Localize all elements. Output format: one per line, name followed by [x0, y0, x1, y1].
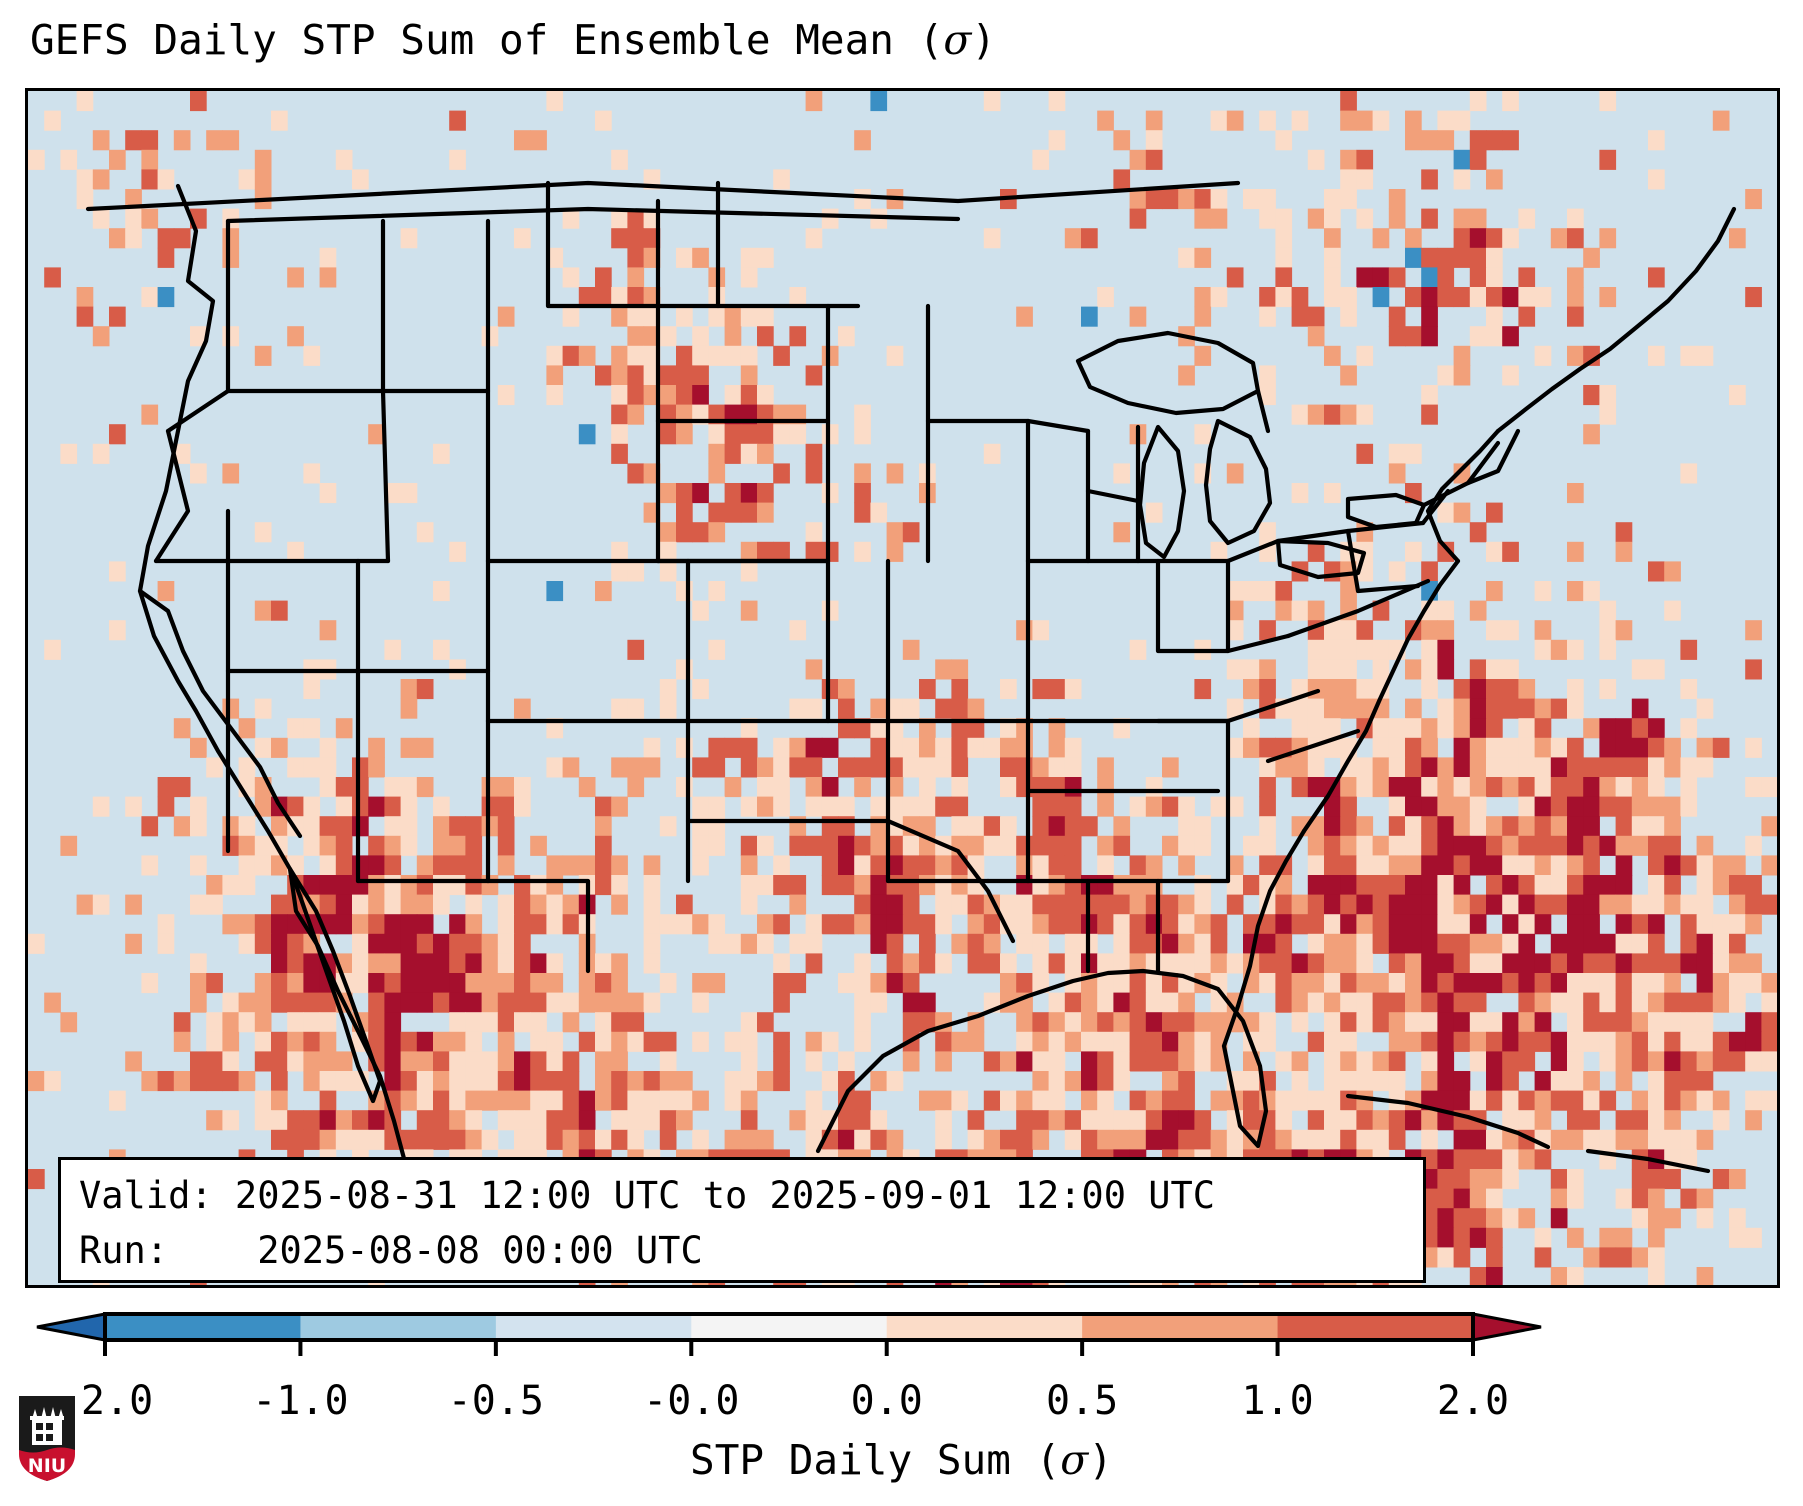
- heatmap-cell: [546, 91, 563, 111]
- heatmap-cell: [1454, 953, 1471, 973]
- heatmap-cell: [870, 934, 887, 954]
- heatmap-cell: [773, 346, 790, 366]
- heatmap-cell: [935, 797, 952, 817]
- heatmap-cell: [1729, 1208, 1746, 1228]
- heatmap-cell: [1502, 1091, 1519, 1111]
- heatmap-cell: [433, 973, 450, 993]
- heatmap-cell: [887, 346, 904, 366]
- heatmap-cell: [919, 797, 936, 817]
- heatmap-cell: [1518, 1149, 1535, 1169]
- heatmap-cell: [1421, 307, 1438, 327]
- heatmap-cell: [1389, 757, 1406, 777]
- heatmap-cell: [1227, 953, 1244, 973]
- heatmap-cell: [1632, 1051, 1649, 1071]
- heatmap-cell: [190, 953, 207, 973]
- heatmap-cell: [1049, 757, 1066, 777]
- heatmap-cell: [1567, 836, 1584, 856]
- heatmap-cell: [1065, 816, 1082, 836]
- heatmap-cell: [1016, 973, 1033, 993]
- heatmap-cell: [514, 1071, 531, 1091]
- heatmap-cell: [1470, 1228, 1487, 1248]
- heatmap-cell: [1049, 1051, 1066, 1071]
- heatmap-cell: [530, 1051, 547, 1071]
- heatmap-cell: [1421, 973, 1438, 993]
- heatmap-cell: [465, 1071, 482, 1091]
- heatmap-cell: [320, 836, 337, 856]
- heatmap-cell: [1389, 914, 1406, 934]
- heatmap-cell: [1567, 267, 1584, 287]
- heatmap-cell: [530, 130, 547, 150]
- heatmap-cell: [1697, 934, 1714, 954]
- heatmap-cell: [1324, 699, 1341, 719]
- heatmap-cell: [1324, 346, 1341, 366]
- heatmap-cell: [1211, 934, 1228, 954]
- heatmap-cell: [951, 699, 968, 719]
- heatmap-cell: [1470, 1189, 1487, 1209]
- heatmap-cell: [1292, 993, 1309, 1013]
- heatmap-cell: [546, 895, 563, 915]
- heatmap-cell: [514, 973, 531, 993]
- heatmap-cell: [1535, 287, 1552, 307]
- heatmap-cell: [336, 875, 353, 895]
- heatmap-cell: [1275, 953, 1292, 973]
- heatmap-cell: [789, 326, 806, 346]
- heatmap-cell: [417, 738, 434, 758]
- heatmap-cell: [1178, 836, 1195, 856]
- heatmap-cell: [368, 1012, 385, 1032]
- heatmap-cell: [433, 816, 450, 836]
- heatmap-cell: [741, 483, 758, 503]
- heatmap-cell: [1178, 248, 1195, 268]
- heatmap-cell: [158, 581, 175, 601]
- heatmap-cell: [1389, 993, 1406, 1013]
- heatmap-cell: [1421, 777, 1438, 797]
- info-box: Valid: 2025-08-31 12:00 UTC to 2025-09-0…: [58, 1157, 1426, 1283]
- heatmap-cell: [1713, 855, 1730, 875]
- heatmap-cell: [1502, 679, 1519, 699]
- heatmap-cell: [449, 1071, 466, 1091]
- heatmap-cell: [1697, 1189, 1714, 1209]
- heatmap-cell: [320, 620, 337, 640]
- heatmap-cell: [1340, 797, 1357, 817]
- heatmap-cell: [1275, 267, 1292, 287]
- heatmap-cell: [1599, 1228, 1616, 1248]
- heatmap-cell: [660, 699, 677, 719]
- heatmap-cell: [1130, 895, 1147, 915]
- heatmap-cell: [1032, 1071, 1049, 1091]
- heatmap-cell: [903, 973, 920, 993]
- heatmap-cell: [741, 757, 758, 777]
- heatmap-cell: [1648, 169, 1665, 189]
- heatmap-cell: [870, 91, 887, 111]
- heatmap-cell: [1389, 209, 1406, 229]
- heatmap-cell: [854, 875, 871, 895]
- heatmap-cell: [1340, 1071, 1357, 1091]
- heatmap-cell: [1648, 855, 1665, 875]
- heatmap-cell: [255, 1051, 272, 1071]
- heatmap-cell: [595, 953, 612, 973]
- heatmap-cell: [417, 679, 434, 699]
- heatmap-cell: [482, 953, 499, 973]
- heatmap-cell: [1308, 601, 1325, 621]
- heatmap-cell: [1065, 679, 1082, 699]
- heatmap-cell: [676, 914, 693, 934]
- heatmap-cell: [1583, 875, 1600, 895]
- heatmap-cell: [1518, 757, 1535, 777]
- heatmap-cell: [1113, 875, 1130, 895]
- heatmap-cell: [660, 1110, 677, 1130]
- heatmap-cell: [887, 914, 904, 934]
- heatmap-cell: [465, 1110, 482, 1130]
- heatmap-cell: [595, 1130, 612, 1150]
- heatmap-cell: [336, 914, 353, 934]
- heatmap-cell: [417, 1130, 434, 1150]
- heatmap-cell: [1049, 130, 1066, 150]
- heatmap-cell: [1324, 953, 1341, 973]
- heatmap-cell: [158, 1071, 175, 1091]
- heatmap-cell: [627, 463, 644, 483]
- heatmap-cell: [1486, 934, 1503, 954]
- heatmap-cell: [870, 797, 887, 817]
- heatmap-cell: [1389, 1071, 1406, 1091]
- heatmap-cell: [1713, 993, 1730, 1013]
- heatmap-cell: [611, 542, 628, 562]
- heatmap-cell: [1616, 777, 1633, 797]
- heatmap-cell: [174, 130, 191, 150]
- heatmap-cell: [1065, 953, 1082, 973]
- heatmap-cell: [822, 679, 839, 699]
- heatmap-cell: [546, 757, 563, 777]
- heatmap-cell: [1146, 973, 1163, 993]
- colorbar-tick-label: -0.5: [448, 1378, 544, 1424]
- heatmap-cell: [417, 914, 434, 934]
- heatmap-cell: [627, 1110, 644, 1130]
- heatmap-cell: [384, 797, 401, 817]
- heatmap-cell: [255, 855, 272, 875]
- heatmap-cell: [1470, 1091, 1487, 1111]
- heatmap-cell: [1065, 875, 1082, 895]
- heatmap-cell: [1405, 934, 1422, 954]
- heatmap-cell: [1211, 1130, 1228, 1150]
- heatmap-cell: [1405, 444, 1422, 464]
- heatmap-cell: [1373, 993, 1390, 1013]
- heatmap-cell: [287, 1051, 304, 1071]
- heatmap-cell: [1567, 1130, 1584, 1150]
- colorbar-tick-label: 1.0: [1241, 1378, 1313, 1424]
- heatmap-cell: [1599, 150, 1616, 170]
- heatmap-cell: [692, 1130, 709, 1150]
- heatmap-cell: [1405, 738, 1422, 758]
- heatmap-cell: [222, 1071, 239, 1091]
- heatmap-cell: [822, 209, 839, 229]
- heatmap-cell: [1178, 1071, 1195, 1091]
- heatmap-cell: [741, 1012, 758, 1032]
- heatmap-cell: [1292, 1051, 1309, 1071]
- heatmap-cell: [1470, 816, 1487, 836]
- heatmap-cell: [1130, 855, 1147, 875]
- heatmap-cell: [271, 816, 288, 836]
- heatmap-cell: [206, 1110, 223, 1130]
- heatmap-cell: [1632, 914, 1649, 934]
- heatmap-cell: [206, 1071, 223, 1091]
- heatmap-cell: [611, 699, 628, 719]
- heatmap-cell: [433, 1032, 450, 1052]
- heatmap-cell: [1664, 993, 1681, 1013]
- heatmap-cell: [1745, 1032, 1762, 1052]
- heatmap-cell: [838, 1130, 855, 1150]
- heatmap-cell: [1583, 895, 1600, 915]
- heatmap-cell: [838, 326, 855, 346]
- heatmap-cell: [1259, 365, 1276, 385]
- heatmap-cell: [1470, 914, 1487, 934]
- heatmap-cell: [1454, 169, 1471, 189]
- heatmap-cell: [1648, 973, 1665, 993]
- heatmap-cell: [1340, 287, 1357, 307]
- heatmap-cell: [1016, 620, 1033, 640]
- heatmap-cell: [1259, 287, 1276, 307]
- heatmap-cell: [1049, 777, 1066, 797]
- heatmap-cell: [449, 150, 466, 170]
- heatmap-cell: [1292, 1071, 1309, 1091]
- heatmap-cell: [676, 483, 693, 503]
- heatmap-cell: [951, 816, 968, 836]
- heatmap-cell: [1729, 934, 1746, 954]
- heatmap-cell: [125, 895, 142, 915]
- heatmap-cell: [1227, 1130, 1244, 1150]
- heatmap-cell: [1567, 287, 1584, 307]
- heatmap-cell: [773, 875, 790, 895]
- heatmap-cell: [465, 816, 482, 836]
- heatmap-cell: [1664, 561, 1681, 581]
- heatmap-cell: [1486, 1149, 1503, 1169]
- heatmap-cell: [1502, 1051, 1519, 1071]
- heatmap-cell: [1518, 777, 1535, 797]
- heatmap-cell: [1470, 209, 1487, 229]
- heatmap-cell: [595, 1091, 612, 1111]
- heatmap-cell: [1567, 699, 1584, 719]
- heatmap-cell: [1097, 757, 1114, 777]
- heatmap-cell: [1373, 1071, 1390, 1091]
- heatmap-cell: [222, 914, 239, 934]
- heatmap-cell: [1259, 111, 1276, 131]
- heatmap-cell: [255, 1012, 272, 1032]
- heatmap-cell: [401, 953, 418, 973]
- heatmap-cell: [271, 993, 288, 1013]
- heatmap-cell: [1259, 659, 1276, 679]
- heatmap-cell: [1308, 1130, 1325, 1150]
- heatmap-cell: [1049, 953, 1066, 973]
- heatmap-cell: [1697, 973, 1714, 993]
- heatmap-cell: [482, 1091, 499, 1111]
- heatmap-cell: [1697, 1051, 1714, 1071]
- heatmap-cell: [222, 463, 239, 483]
- heatmap-cell: [530, 895, 547, 915]
- heatmap-cell: [190, 895, 207, 915]
- heatmap-cell: [1599, 228, 1616, 248]
- heatmap-cell: [1648, 1012, 1665, 1032]
- heatmap-cell: [741, 267, 758, 287]
- heatmap-cell: [1664, 1051, 1681, 1071]
- heatmap-cell: [368, 895, 385, 915]
- heatmap-cell: [1680, 895, 1697, 915]
- heatmap-cell: [854, 483, 871, 503]
- heatmap-cell: [1470, 130, 1487, 150]
- heatmap-cell: [401, 679, 418, 699]
- heatmap-cell: [352, 934, 369, 954]
- heatmap-cell: [368, 914, 385, 934]
- heatmap-cell: [838, 836, 855, 856]
- heatmap-cell: [1486, 287, 1503, 307]
- heatmap-cell: [1535, 738, 1552, 758]
- heatmap-cell: [1292, 914, 1309, 934]
- heatmap-cell: [449, 914, 466, 934]
- heatmap-cell: [465, 1091, 482, 1111]
- heatmap-cell: [1518, 973, 1535, 993]
- heatmap-cell: [1697, 914, 1714, 934]
- colorbar-tick-label: 0.5: [1046, 1378, 1118, 1424]
- heatmap-cell: [174, 777, 191, 797]
- heatmap-cell: [1000, 777, 1017, 797]
- heatmap-cell: [514, 934, 531, 954]
- heatmap-cell: [1486, 267, 1503, 287]
- heatmap-cell: [1567, 1071, 1584, 1091]
- heatmap-cell: [1049, 816, 1066, 836]
- heatmap-cell: [660, 424, 677, 444]
- heatmap-cell: [1308, 973, 1325, 993]
- heatmap-cell: [1551, 973, 1568, 993]
- heatmap-cell: [498, 1110, 515, 1130]
- heatmap-cell: [433, 1091, 450, 1111]
- heatmap-cell: [1259, 581, 1276, 601]
- heatmap-cell: [1648, 914, 1665, 934]
- heatmap-cell: [1162, 993, 1179, 1013]
- heatmap-cell: [1761, 1091, 1777, 1111]
- heatmap-cell: [1243, 189, 1260, 209]
- heatmap-cell: [822, 777, 839, 797]
- heatmap-cell: [806, 444, 823, 464]
- heatmap-cell: [1113, 1110, 1130, 1130]
- heatmap-cell: [1616, 836, 1633, 856]
- heatmap-cell: [1211, 797, 1228, 817]
- heatmap-cell: [1567, 1267, 1584, 1285]
- heatmap-cell: [1583, 797, 1600, 817]
- heatmap-cell: [1421, 130, 1438, 150]
- heatmap-cell: [1454, 111, 1471, 131]
- heatmap-cell: [1032, 679, 1049, 699]
- heatmap-cell: [1551, 1051, 1568, 1071]
- heatmap-cell: [1551, 1267, 1568, 1285]
- heatmap-cell: [611, 1051, 628, 1071]
- heatmap-cell: [287, 757, 304, 777]
- heatmap-cell: [28, 934, 45, 954]
- heatmap-cell: [595, 111, 612, 131]
- heatmap-cell: [708, 424, 725, 444]
- heatmap-cell: [1178, 934, 1195, 954]
- heatmap-cell: [1583, 1130, 1600, 1150]
- heatmap-cell: [1664, 797, 1681, 817]
- heatmap-cell: [1535, 836, 1552, 856]
- heatmap-cell: [1324, 659, 1341, 679]
- heatmap-cell: [1486, 1130, 1503, 1150]
- heatmap-cell: [1405, 718, 1422, 738]
- heatmap-cell: [968, 699, 985, 719]
- heatmap-cell: [336, 895, 353, 915]
- heatmap-cell: [271, 934, 288, 954]
- heatmap-cell: [1130, 973, 1147, 993]
- heatmap-cell: [1421, 816, 1438, 836]
- heatmap-cell: [1227, 111, 1244, 131]
- heatmap-cell: [1632, 699, 1649, 719]
- heatmap-cell: [1745, 659, 1762, 679]
- colorbar-segment: [1278, 1314, 1474, 1340]
- heatmap-cell: [303, 679, 320, 699]
- heatmap-cell: [1502, 1169, 1519, 1189]
- heatmap-cell: [644, 993, 661, 1013]
- heatmap-cell: [741, 444, 758, 464]
- heatmap-cell: [1535, 640, 1552, 660]
- heatmap-cell: [563, 1051, 580, 1071]
- heatmap-cell: [1518, 953, 1535, 973]
- heatmap-cell: [1324, 679, 1341, 699]
- heatmap-cell: [1518, 287, 1535, 307]
- heatmap-cell: [1275, 601, 1292, 621]
- heatmap-cell: [627, 757, 644, 777]
- heatmap-cell: [627, 1071, 644, 1091]
- heatmap-cell: [449, 993, 466, 1013]
- heatmap-cell: [1259, 209, 1276, 229]
- heatmap-cell: [368, 757, 385, 777]
- heatmap-cell: [1713, 1051, 1730, 1071]
- heatmap-cell: [514, 993, 531, 1013]
- heatmap-cell: [1389, 326, 1406, 346]
- heatmap-cell: [1437, 895, 1454, 915]
- heatmap-cell: [1486, 1247, 1503, 1267]
- colorbar-tick-label: -0.0: [643, 1378, 739, 1424]
- heatmap-cell: [627, 1130, 644, 1150]
- heatmap-cell: [660, 326, 677, 346]
- heatmap-cell: [303, 757, 320, 777]
- heatmap-cell: [1373, 287, 1390, 307]
- heatmap-cell: [1470, 895, 1487, 915]
- heatmap-cell: [887, 1071, 904, 1091]
- heatmap-cell: [611, 150, 628, 170]
- heatmap-cell: [1049, 855, 1066, 875]
- heatmap-cell: [1421, 914, 1438, 934]
- heatmap-cell: [1745, 1051, 1762, 1071]
- heatmap-cell: [190, 973, 207, 993]
- heatmap-cell: [1389, 855, 1406, 875]
- heatmap-cell: [1259, 1032, 1276, 1052]
- heatmap-cell: [595, 1051, 612, 1071]
- heatmap-cell: [1664, 1032, 1681, 1052]
- heatmap-cell: [1324, 287, 1341, 307]
- heatmap-cell: [1162, 757, 1179, 777]
- heatmap-cell: [708, 463, 725, 483]
- heatmap-cell: [514, 1110, 531, 1130]
- heatmap-cell: [1664, 757, 1681, 777]
- heatmap-cell: [206, 1012, 223, 1032]
- heatmap-cell: [1032, 1032, 1049, 1052]
- heatmap-cell: [1518, 797, 1535, 817]
- heatmap-cell: [1178, 895, 1195, 915]
- heatmap-cell: [1454, 1189, 1471, 1209]
- heatmap-cell: [1583, 385, 1600, 405]
- heatmap-cell: [174, 228, 191, 248]
- heatmap-cell: [741, 1051, 758, 1071]
- colorbar-tick-labels: -2.0-1.0-0.5-0.00.00.51.02.0: [0, 1378, 1803, 1434]
- heatmap-cell: [854, 463, 871, 483]
- heatmap-cell: [1259, 620, 1276, 640]
